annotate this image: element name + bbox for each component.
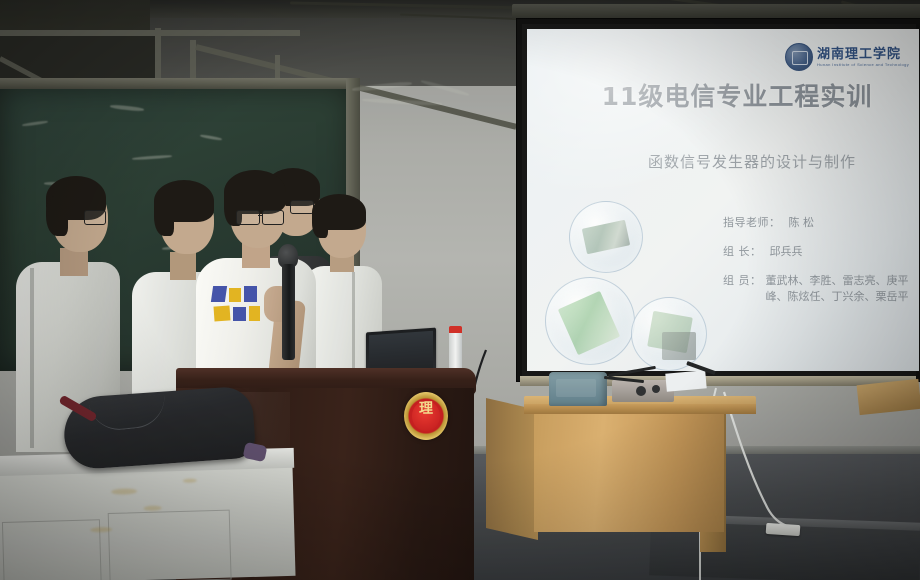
slide-subtitle: 函数信号发生器的设计与制作 — [587, 151, 917, 172]
window-frame-top — [0, 30, 300, 36]
slide-surface: 湖南理工学院 Hunan Institute of Science and Te… — [527, 29, 919, 371]
leaning-board — [857, 379, 920, 415]
neck — [60, 248, 88, 276]
university-seal-icon — [785, 43, 813, 71]
shirt-placket — [30, 268, 34, 448]
table-side-panel — [486, 398, 538, 540]
photo-scene: 湖南理工学院 Hunan Institute of Science and Te… — [0, 0, 920, 580]
credit-label: 组 长： — [723, 244, 762, 260]
desk-body — [0, 462, 296, 580]
photo-bubble-1 — [569, 201, 643, 273]
photo-bubble-3 — [631, 297, 707, 371]
slide-title: 11级电信专业工程实训 — [557, 77, 917, 113]
hair-side — [312, 208, 328, 238]
glasses-bridge — [258, 215, 263, 216]
credit-row: 指导老师： 陈 松 — [723, 215, 919, 231]
glasses-icon — [84, 210, 106, 225]
screen-glare — [527, 29, 827, 230]
equipment-knob — [636, 386, 646, 396]
microphone-body[interactable] — [282, 264, 295, 360]
desk-panel-left — [2, 519, 102, 580]
credit-label: 指导老师： — [723, 215, 781, 231]
credit-row: 组 长： 邱兵兵 — [723, 244, 919, 260]
power-strip — [766, 523, 801, 536]
logo-name-cn: 湖南理工学院 — [817, 48, 909, 61]
shirt-placket — [352, 272, 355, 382]
credit-label: 组 员： — [723, 273, 762, 305]
bottle-cap — [449, 326, 462, 333]
university-logo: 湖南理工学院 Hunan Institute of Science and Te… — [785, 43, 909, 71]
desk-panel-right — [108, 510, 232, 580]
paper-sheet — [665, 370, 706, 391]
equipment-knob-2 — [652, 385, 660, 393]
projector-panel — [556, 379, 596, 397]
emblem-glyph: 理 — [404, 398, 448, 418]
projection-screen: 湖南理工学院 Hunan Institute of Science and Te… — [516, 18, 920, 382]
glasses-icon-right — [262, 210, 284, 225]
logo-name-en: Hunan Institute of Science and Technolog… — [817, 63, 909, 67]
neck — [170, 252, 196, 280]
hair-side — [154, 198, 174, 236]
hair-side — [46, 196, 68, 236]
table-front-panel — [534, 412, 724, 532]
slide-credits: 指导老师： 陈 松 组 长： 邱兵兵 组 员： 董武林、李胜、雷志亮、庚平峰、陈… — [723, 215, 919, 318]
glasses-icon — [290, 200, 314, 214]
credit-value: 陈 松 — [789, 215, 815, 231]
podium-emblem: 理 — [404, 392, 448, 440]
credit-value: 董武林、李胜、雷志亮、庚平峰、陈炫任、丁兴余、栗岳平 — [766, 273, 920, 305]
tshirt-graphic — [212, 286, 264, 332]
glasses-icon — [236, 210, 260, 225]
photo-bubble-2 — [545, 277, 635, 365]
credit-value: 邱兵兵 — [770, 244, 803, 260]
credit-row: 组 员： 董武林、李胜、雷志亮、庚平峰、陈炫任、丁兴余、栗岳平 — [723, 273, 919, 305]
chalkboard-frame-top — [0, 78, 360, 89]
